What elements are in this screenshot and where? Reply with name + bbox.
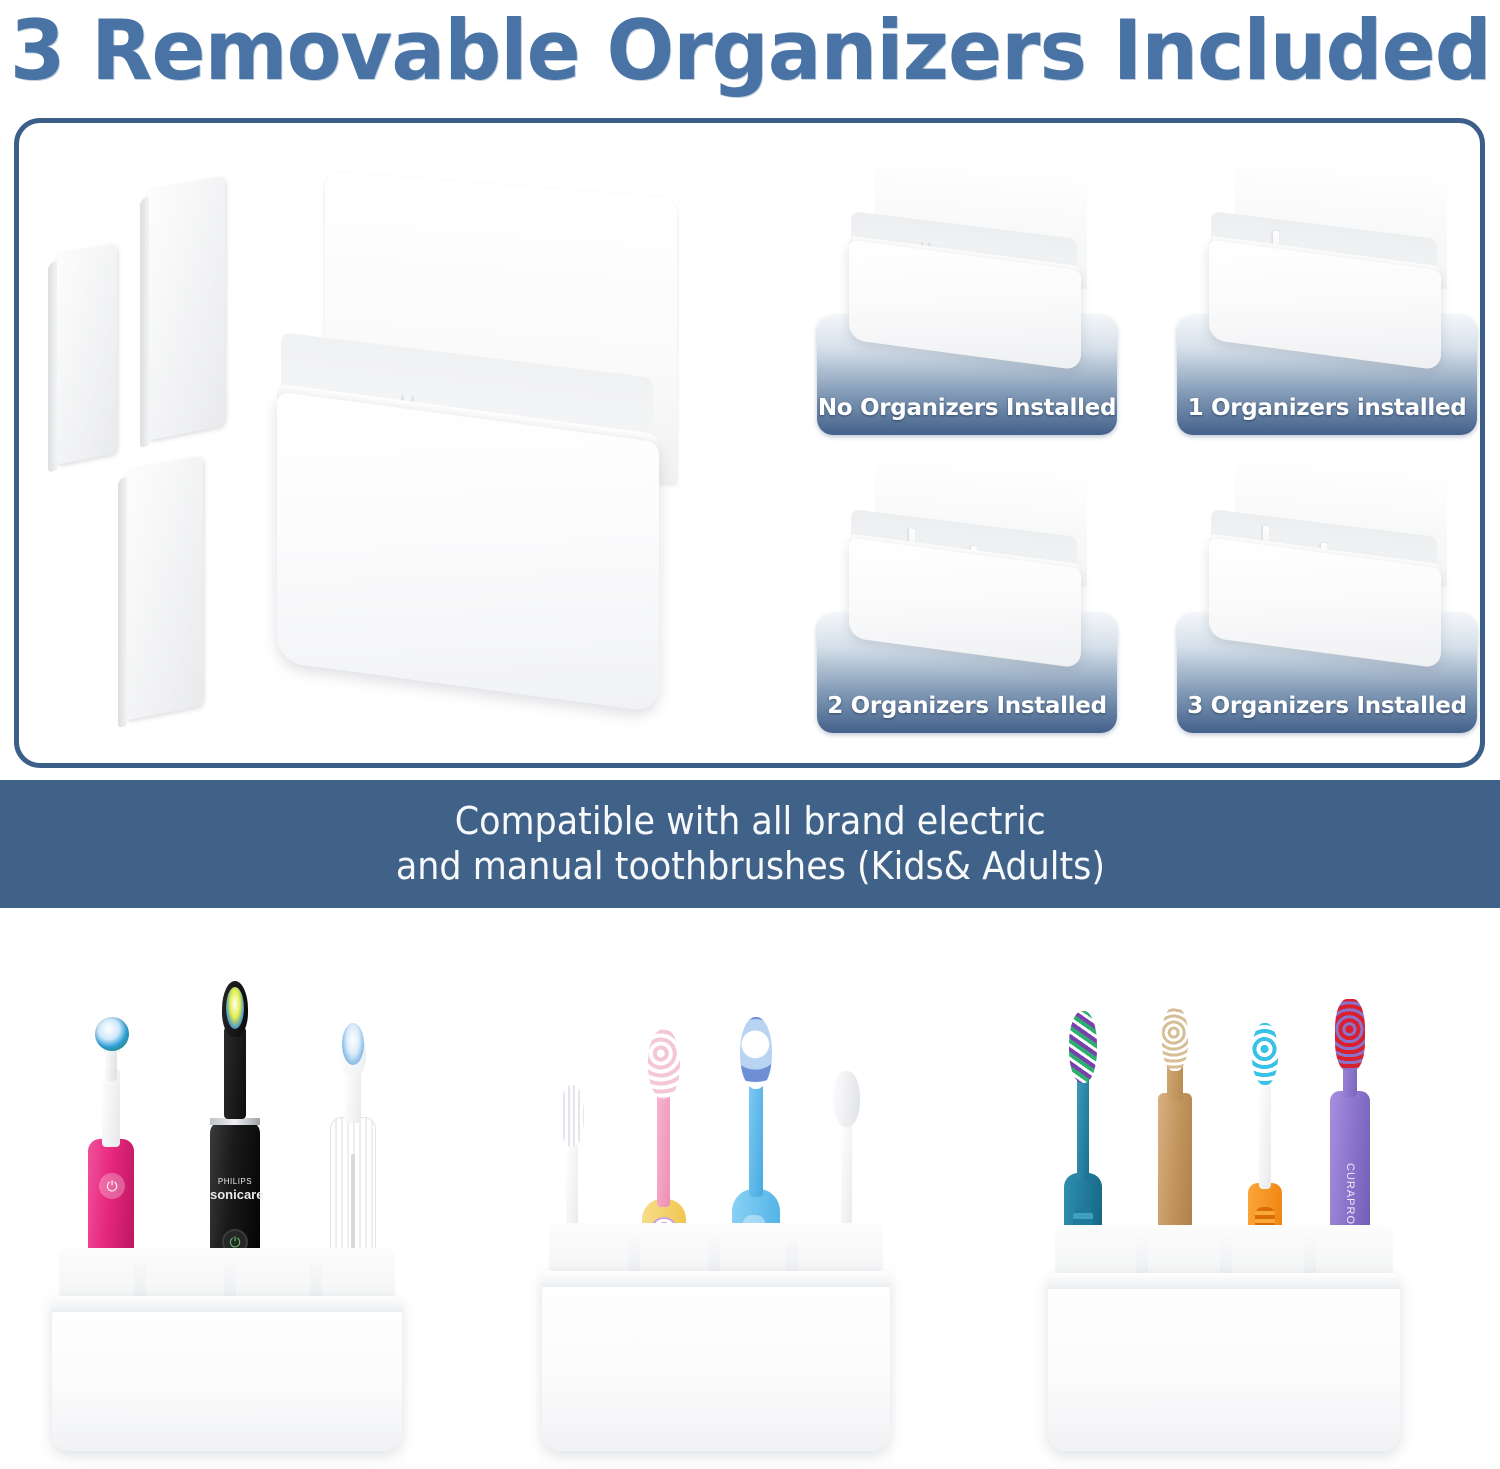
- variant-no-organizers: No Organizers Installed: [817, 155, 1117, 435]
- brush-head-bristles: [226, 987, 244, 1029]
- caddy-body: [52, 1296, 402, 1451]
- photo-kids-toothbrushes: [530, 908, 950, 1469]
- toothbrush-holder-caddy: [542, 1271, 890, 1451]
- brush-head-bristles: [833, 1071, 860, 1127]
- compatibility-line-1: Compatible with all brand electric: [454, 799, 1045, 844]
- brush-head-bristles: [1069, 1011, 1097, 1083]
- brush-neck: [657, 1089, 670, 1207]
- brush-collar: [210, 1118, 260, 1125]
- variant-badge-label: 3 Organizers Installed: [1177, 693, 1477, 719]
- removable-organizer-plate-3: [125, 455, 203, 720]
- caddy-divider-slot: [1304, 1233, 1316, 1277]
- caddy-body: [542, 1271, 890, 1451]
- caddy-lip: [52, 1296, 402, 1312]
- caddy-divider-slot: [786, 1231, 798, 1275]
- variant-holder-image: [845, 159, 1095, 355]
- variant-badge-label: No Organizers Installed: [817, 395, 1117, 421]
- caddy-divider-slot: [708, 1231, 720, 1275]
- holder-front-face: [277, 392, 659, 713]
- removable-organizer-plate-2: [147, 175, 225, 440]
- caddy-divider-slot: [1220, 1233, 1232, 1277]
- brand-text-curaprox: CURAPROX: [1344, 1163, 1356, 1233]
- brand-text-sonicare: sonicare: [210, 1187, 260, 1202]
- variant-holder-image: [1205, 159, 1455, 355]
- brush-head-bristles: [1335, 999, 1365, 1071]
- brush-head-bristles: [95, 1017, 129, 1051]
- caddy-divider-slot: [628, 1231, 640, 1275]
- brush-neck: [749, 1079, 763, 1197]
- caddy-divider-slot: [310, 1256, 322, 1300]
- main-toothbrush-holder-image: [267, 185, 682, 695]
- variant-three-organizers: 3 Organizers Installed: [1177, 453, 1477, 733]
- toothbrush-holder-caddy: [52, 1296, 402, 1451]
- brand-text-philips: PHILIPS: [210, 1177, 260, 1186]
- brush-neck: [566, 1139, 578, 1235]
- caddy-divider-slot: [1136, 1233, 1148, 1277]
- caddy-lip: [1048, 1273, 1400, 1289]
- brush-head-bristles: [740, 1017, 772, 1089]
- brush-neck: [841, 1117, 852, 1235]
- caddy-lip: [542, 1271, 890, 1287]
- caddy-body: [1048, 1273, 1400, 1451]
- toothbrush-holder-caddy: [1048, 1273, 1400, 1451]
- brush-head-bristles: [648, 1029, 680, 1099]
- compatibility-line-2: and manual toothbrushes (Kids& Adults): [395, 844, 1104, 889]
- variant-one-organizer: 1 Organizers installed: [1177, 155, 1477, 435]
- photo-manual-toothbrushes: CURAPROX: [1030, 908, 1480, 1469]
- variant-badge-label: 2 Organizers Installed: [817, 693, 1117, 719]
- variant-holder-image: [845, 457, 1095, 653]
- removable-organizer-plate-1: [55, 243, 117, 465]
- brush-neck: [1259, 1071, 1271, 1189]
- compatibility-banner: Compatible with all brand electric and m…: [0, 780, 1500, 908]
- variant-badge-label: 1 Organizers installed: [1177, 395, 1477, 421]
- organizers-panel: No Organizers Installed 1 Organizers ins…: [14, 118, 1485, 768]
- page-title-bar: 3 Removable Organizers Included: [0, 0, 1500, 100]
- photo-electric-toothbrushes: ⏻ PHILIPS sonicare ⏻: [30, 908, 490, 1469]
- brush-neck: [224, 1027, 246, 1119]
- brush-head-bristles: [1252, 1023, 1278, 1085]
- product-photo-row: ⏻ PHILIPS sonicare ⏻: [0, 908, 1500, 1469]
- brush-head-bristles: [560, 1085, 584, 1147]
- power-button-icon: ⏻: [99, 1173, 125, 1199]
- page-title: 3 Removable Organizers Included: [10, 9, 1491, 92]
- brush-head-bristles: [342, 1023, 364, 1065]
- variant-holder-image: [1205, 457, 1455, 653]
- caddy-divider-slot: [134, 1256, 146, 1300]
- variant-two-organizers: 2 Organizers Installed: [817, 453, 1117, 733]
- caddy-divider-slot: [224, 1256, 236, 1300]
- brush-head-bristles: [1162, 1007, 1188, 1071]
- brush-neck: [1077, 1071, 1089, 1181]
